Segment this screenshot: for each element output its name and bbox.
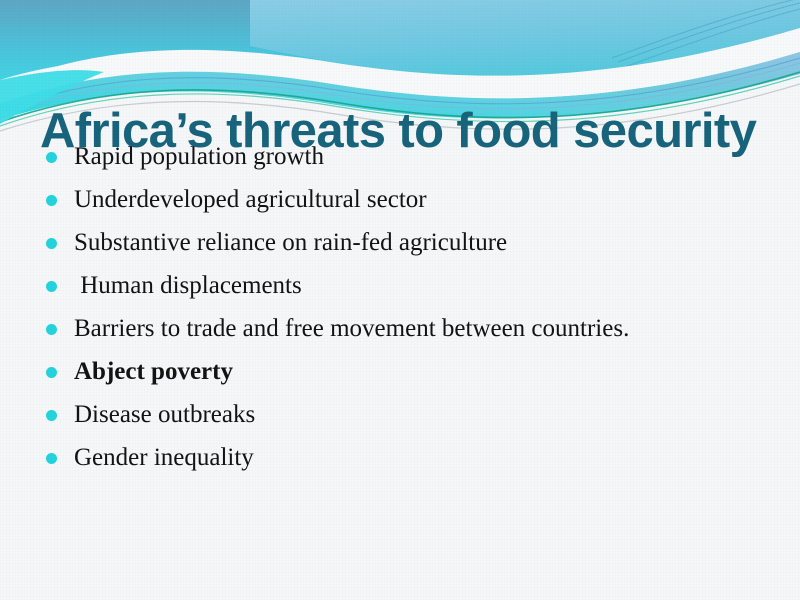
- presentation-slide: Africa’s threats to food security Rapid …: [0, 0, 800, 600]
- list-item-label: Substantive reliance on rain-fed agricul…: [74, 226, 724, 260]
- list-item: Gender inequality: [44, 441, 724, 475]
- list-item-label: Abject poverty: [74, 355, 724, 389]
- list-item-label: Rapid population growth: [74, 140, 724, 174]
- bullet-dot-icon: [46, 238, 57, 249]
- bullet-dot-icon: [46, 195, 57, 206]
- list-item: Human displacements: [44, 269, 724, 303]
- list-item: Barriers to trade and free movement betw…: [44, 312, 724, 346]
- bullet-dot-icon: [46, 410, 57, 421]
- list-item-label: Human displacements: [74, 269, 724, 303]
- bullet-dot-icon: [46, 152, 57, 163]
- bullet-dot-icon: [46, 281, 57, 292]
- list-item: Underdeveloped agricultural sector: [44, 183, 724, 217]
- list-item: Rapid population growth: [44, 140, 724, 174]
- list-item: Abject poverty: [44, 355, 724, 389]
- list-item-label: Gender inequality: [74, 441, 724, 475]
- bullet-dot-icon: [46, 367, 57, 378]
- bullet-dot-icon: [46, 453, 57, 464]
- list-item-label: Underdeveloped agricultural sector: [74, 183, 724, 217]
- list-item-label: Barriers to trade and free movement betw…: [74, 312, 724, 346]
- bullet-list: Rapid population growth Underdeveloped a…: [44, 140, 724, 484]
- bullet-dot-icon: [46, 324, 57, 335]
- list-item-label: Disease outbreaks: [74, 398, 724, 432]
- list-item: Disease outbreaks: [44, 398, 724, 432]
- list-item: Substantive reliance on rain-fed agricul…: [44, 226, 724, 260]
